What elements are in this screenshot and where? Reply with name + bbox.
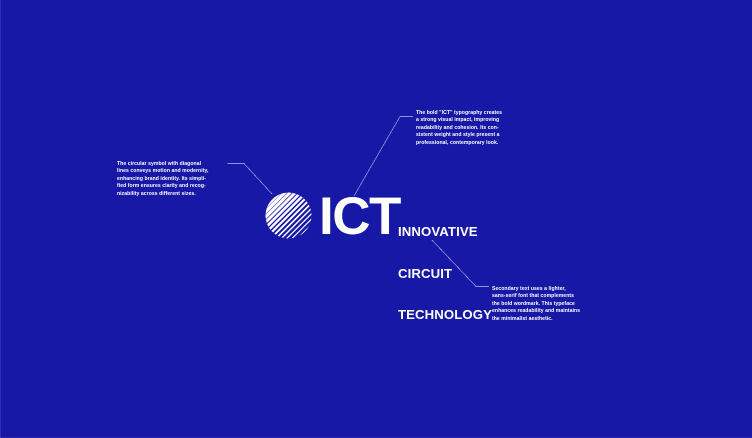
annotation-secondary-line-3: the bold wordmark. This typeface [492,301,580,308]
annotation-secondary-line-5: the minimalist aesthetic. [492,316,580,323]
striped-circle-logo-mark-icon [265,192,312,239]
annotation-symbol: The circular symbol with diagonal lines … [117,161,208,198]
annotation-symbol-line-5: nizability across different sizes. [117,191,208,198]
tagline-block: INNOVATIVE CIRCUIT TECHNOLOGY [398,197,492,350]
annotation-secondary-line-2: sans-serif font that complements [492,293,580,300]
annotation-wordmark: The bold "ICT" typography creates a stro… [416,110,502,147]
leader-line-wordmark [354,117,413,197]
annotation-secondary: Secondary text uses a lighter, sans-seri… [492,286,580,323]
annotation-wordmark-line-3: readability and cohesion. Its con- [416,125,502,132]
annotation-wordmark-line-5: professional, contemporary look. [416,140,502,147]
brand-presentation-canvas: ICT INNOVATIVE CIRCUIT TECHNOLOGY The ci… [0,0,752,438]
tagline-line-2: CIRCUIT [398,267,492,281]
annotation-symbol-line-4: fied form ensures clarity and recog- [117,183,208,190]
annotation-secondary-line-1: Secondary text uses a lighter, [492,286,580,293]
annotation-wordmark-line-4: sistent weight and style present a [416,132,502,139]
annotation-symbol-line-1: The circular symbol with diagonal [117,161,208,168]
wordmark-ict: ICT [319,190,400,243]
logo-lockup: ICT INNOVATIVE CIRCUIT TECHNOLOGY [265,190,495,244]
tagline-line-1: INNOVATIVE [398,225,492,239]
tagline-line-3: TECHNOLOGY [398,308,492,322]
annotation-symbol-line-3: enhancing brand identity. Its simpli- [117,176,208,183]
annotation-wordmark-line-1: The bold "ICT" typography creates [416,110,502,117]
annotation-secondary-line-4: enhances readability and maintains [492,308,580,315]
annotation-symbol-line-2: lines conveys motion and modernity, [117,168,208,175]
annotation-wordmark-line-2: a strong visual impact, improving [416,117,502,124]
